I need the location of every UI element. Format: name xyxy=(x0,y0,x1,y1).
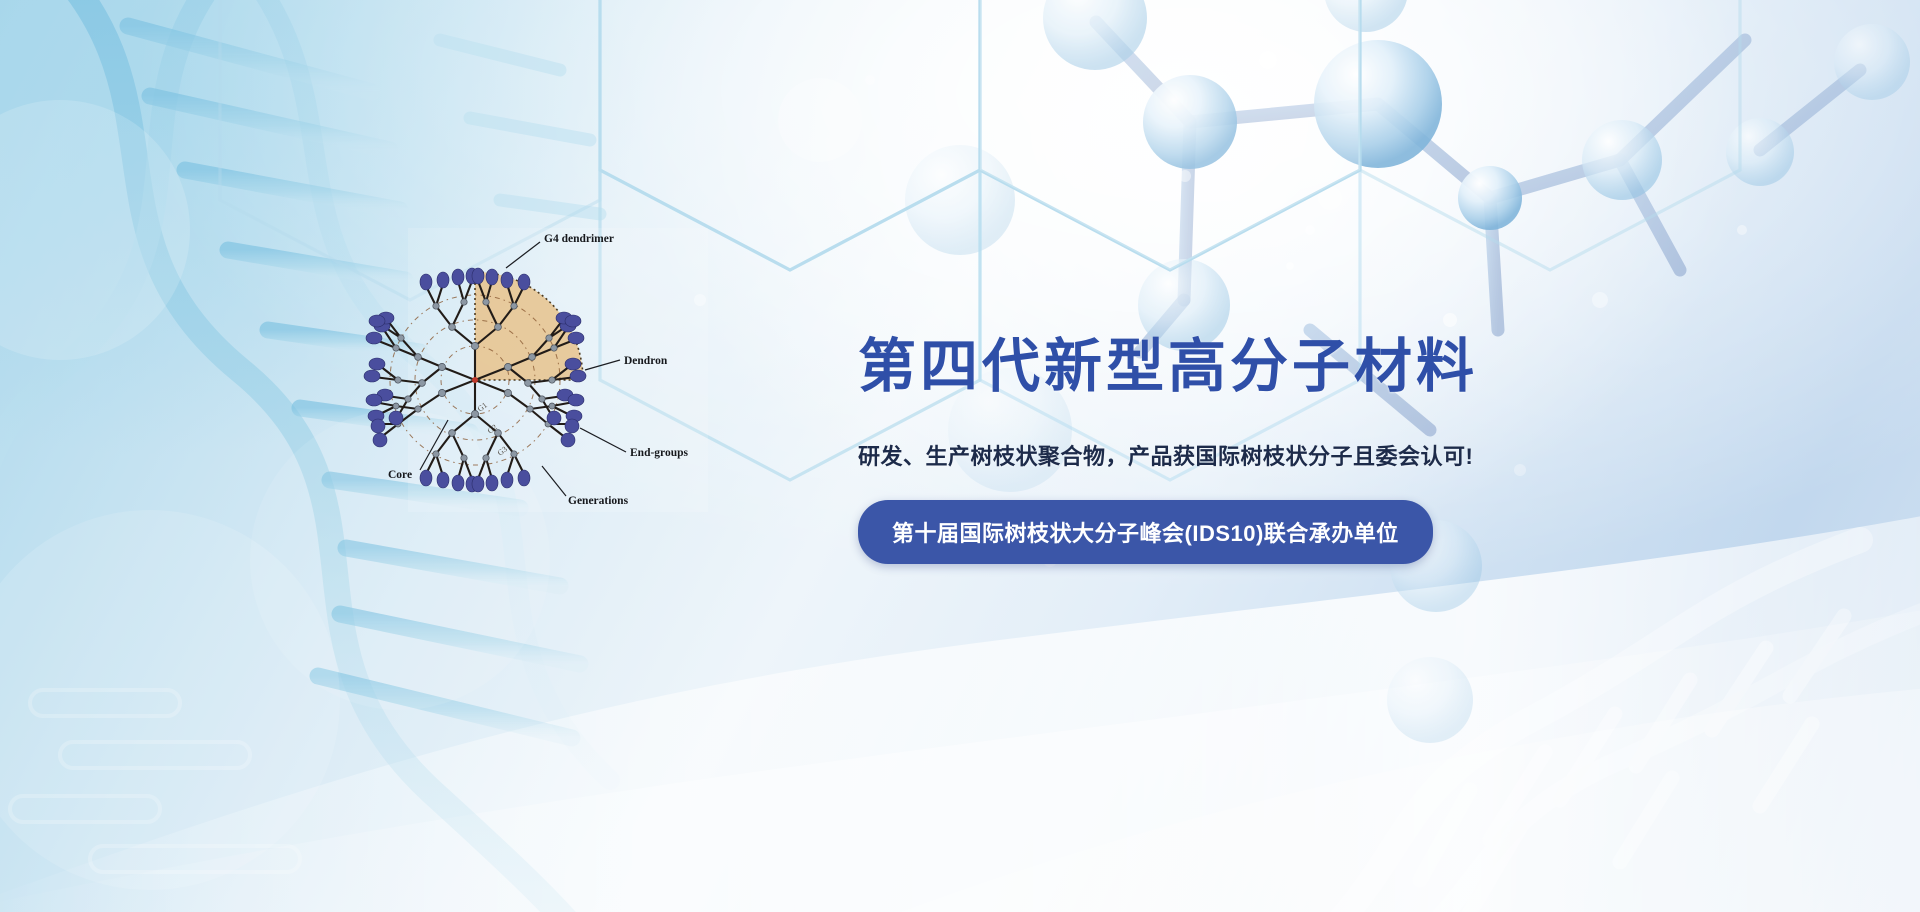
figure-label-dendron: Dendron xyxy=(624,355,668,367)
figure-label-g4-dendrimer: G4 dendrimer xyxy=(544,233,614,245)
hero-banner: G1 G2 G3 G4 dendrimer Dendron End-groups… xyxy=(0,0,1920,912)
core-marker xyxy=(472,377,478,383)
figure-label-core: Core xyxy=(388,469,412,481)
hero-subtitle: 研发、生产树枝状聚合物，产品获国际树枝状分子且委会认可! xyxy=(858,439,1598,471)
figure-label-end-groups: End-groups xyxy=(630,447,688,459)
figure-label-generations: Generations xyxy=(568,495,629,507)
dendrimer-diagram: G1 G2 G3 G4 dendrimer Dendron End-groups… xyxy=(330,220,750,520)
summit-cohost-button[interactable]: 第十届国际树枝状大分子峰会(IDS10)联合承办单位 xyxy=(858,500,1433,564)
hero-content: 第四代新型高分子材料 研发、生产树枝状聚合物，产品获国际树枝状分子且委会认可! … xyxy=(858,336,1598,564)
page-title: 第四代新型高分子材料 xyxy=(858,336,1598,399)
